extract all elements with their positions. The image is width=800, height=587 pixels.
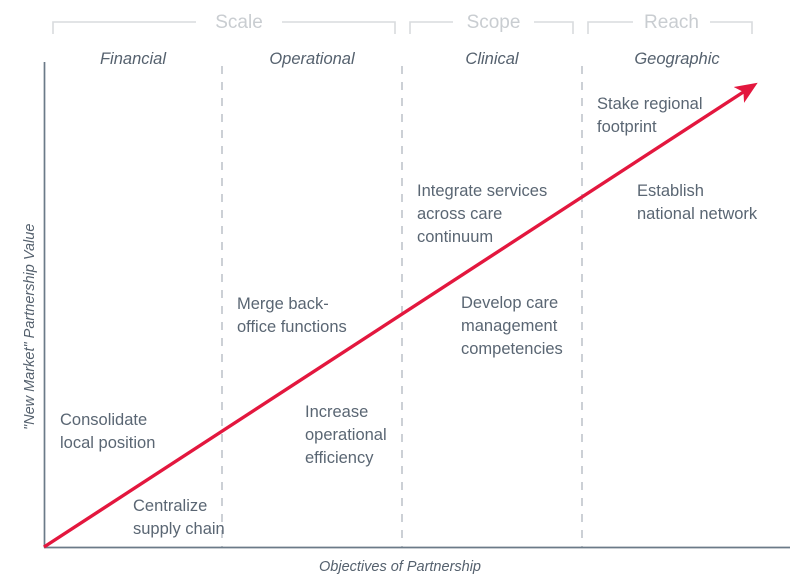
group-label-scale: Scale bbox=[196, 13, 282, 32]
partnership-value-diagram: Scale Scope Reach Financial Operational … bbox=[0, 0, 800, 587]
annotation-stake-regional-footprint: Stake regional footprint bbox=[597, 93, 772, 139]
annotation-develop-care-management-competencies: Develop care management competencies bbox=[461, 292, 611, 361]
annotation-increase-operational-efficiency: Increase operational efficiency bbox=[305, 401, 455, 470]
annotation-centralize-supply-chain: Centralize supply chain bbox=[133, 495, 283, 541]
annotation-merge-back-office-functions: Merge back- office functions bbox=[237, 293, 407, 339]
group-label-scope: Scope bbox=[453, 13, 534, 32]
y-axis-title: "New Market" Partnership Value bbox=[22, 224, 38, 430]
annotation-consolidate-local-position: Consolidate local position bbox=[60, 409, 220, 455]
annotation-establish-national-network: Establish national network bbox=[637, 180, 800, 226]
column-header-operational: Operational bbox=[222, 50, 402, 69]
annotation-integrate-services-across-care-continuum: Integrate services across care continuum bbox=[417, 180, 582, 249]
column-header-clinical: Clinical bbox=[402, 50, 582, 69]
group-label-reach: Reach bbox=[633, 13, 710, 32]
column-header-financial: Financial bbox=[44, 50, 222, 69]
column-header-geographic: Geographic bbox=[582, 50, 772, 69]
x-axis-title: Objectives of Partnership bbox=[200, 558, 600, 576]
